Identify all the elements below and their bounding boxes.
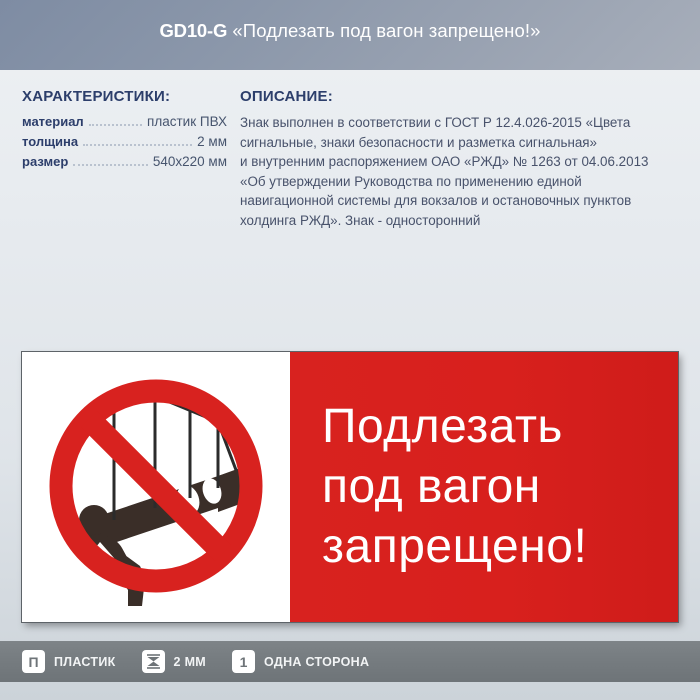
spec-row-thickness: толщина 2 мм [22, 132, 227, 152]
plastic-icon: П [22, 650, 45, 673]
no-crawling-under-railcar-pictogram [22, 352, 290, 622]
footer-label-thickness: 2 ММ [174, 655, 206, 669]
spec-label-material: материал [22, 112, 84, 132]
one-side-icon: 1 [232, 650, 255, 673]
pictogram-svg [22, 352, 290, 622]
description-block: ОПИСАНИЕ: Знак выполнен в соответствии с… [240, 88, 692, 231]
footer-item-sides: 1 ОДНА СТОРОНА [232, 650, 369, 673]
spec-value-thickness: 2 мм [197, 132, 227, 152]
sign-text-line: под вагон [322, 457, 678, 517]
footer-attributes-bar: П ПЛАСТИК 2 ММ 1 ОДНА СТОРОНА [0, 641, 700, 682]
page-title: GD10-G «Подлезать под вагон запрещено!» [0, 20, 700, 42]
sign-preview: Подлезать под вагон запрещено! [22, 352, 678, 622]
footer-label-sides: ОДНА СТОРОНА [264, 655, 369, 669]
spec-leader-dots [83, 137, 192, 146]
description-line: «Об утверждении Руководства по применени… [240, 172, 692, 192]
spec-value-size: 540х220 мм [153, 152, 227, 172]
description-line: навигационной системы для вокзалов и ост… [240, 191, 692, 211]
footer-item-thickness: 2 ММ [142, 650, 206, 673]
spec-label-size: размер [22, 152, 68, 172]
page-header: GD10-G «Подлезать под вагон запрещено!» [0, 0, 700, 70]
description-line: сигнальные, знаки безопасности и разметк… [240, 133, 692, 153]
description-line: и внутренним распоряжением ОАО «РЖД» № 1… [240, 152, 692, 172]
specifications-block: ХАРАКТЕРИСТИКИ: материал пластик ПВХ тол… [22, 88, 227, 172]
description-line: холдинга РЖД». Знак - односторонний [240, 211, 692, 231]
product-sign-page: GD10-G «Подлезать под вагон запрещено!» … [0, 0, 700, 700]
spec-label-thickness: толщина [22, 132, 78, 152]
footer-label-material: ПЛАСТИК [54, 655, 116, 669]
thickness-arrows-glyph [146, 654, 161, 669]
sign-text-line: Подлезать [322, 397, 678, 457]
description-line: Знак выполнен в соответствии с ГОСТ Р 12… [240, 113, 692, 133]
spec-leader-dots [73, 157, 148, 166]
footer-item-material: П ПЛАСТИК [22, 650, 116, 673]
spec-row-material: материал пластик ПВХ [22, 112, 227, 132]
description-heading: ОПИСАНИЕ: [240, 88, 692, 105]
product-name: «Подлезать под вагон запрещено!» [232, 20, 540, 41]
sign-text-panel: Подлезать под вагон запрещено! [290, 352, 678, 622]
sign-text-line: запрещено! [322, 517, 678, 577]
specifications-heading: ХАРАКТЕРИСТИКИ: [22, 88, 227, 105]
product-code: GD10-G [159, 20, 227, 41]
spec-value-material: пластик ПВХ [147, 112, 227, 132]
spec-leader-dots [89, 117, 142, 126]
thickness-icon [142, 650, 165, 673]
spec-row-size: размер 540х220 мм [22, 152, 227, 172]
